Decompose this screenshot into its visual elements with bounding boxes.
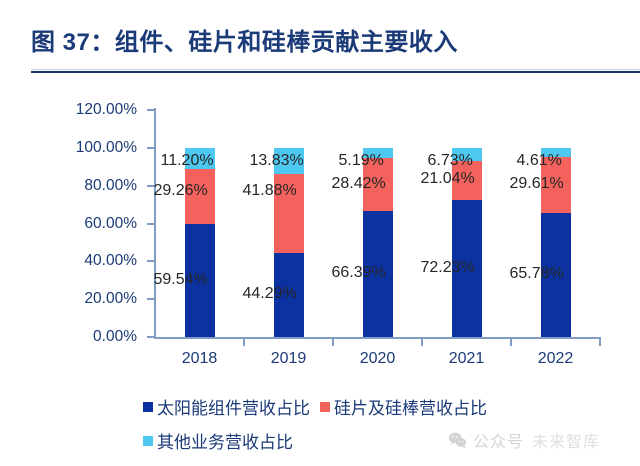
data-label-wafer-rod: 29.26% xyxy=(154,182,208,200)
y-axis-tick-label: 60.00% xyxy=(33,215,137,233)
y-axis-tick-label: 120.00% xyxy=(33,101,137,119)
x-axis-tick xyxy=(510,339,512,346)
title-rule-highlight xyxy=(31,69,640,70)
x-axis-tick xyxy=(421,339,423,346)
x-axis-label: 2018 xyxy=(155,350,245,368)
title-divider xyxy=(31,71,640,73)
legend-row-primary: 太阳能组件营收占比硅片及硅棒营收占比 xyxy=(143,394,497,419)
data-label-wafer-rod: 21.04% xyxy=(421,170,475,188)
y-axis-tick-label: 100.00% xyxy=(33,139,137,157)
y-axis-tick xyxy=(147,260,155,262)
x-axis-label: 2021 xyxy=(422,350,512,368)
x-axis-tick xyxy=(243,339,245,346)
page-title: 图 37：组件、硅片和硅棒贡献主要收入 xyxy=(31,22,458,57)
x-axis-label: 2022 xyxy=(511,350,601,368)
data-label-other-business: 6.73% xyxy=(428,152,473,170)
x-axis-label: 2019 xyxy=(244,350,334,368)
bar-stack[interactable] xyxy=(185,110,215,337)
watermark-prefix: 公众号 xyxy=(473,428,524,452)
data-label-other-business: 5.19% xyxy=(339,152,384,170)
plot-area xyxy=(155,110,600,337)
legend-label: 其他业务营收占比 xyxy=(157,428,293,453)
y-axis-tick-label: 80.00% xyxy=(33,177,137,195)
watermark: 公众号 未来智库 xyxy=(448,428,600,452)
data-label-solar-module: 44.29% xyxy=(243,285,297,303)
y-axis-tick-label: 20.00% xyxy=(33,290,137,308)
legend-label: 硅片及硅棒营收占比 xyxy=(334,394,487,419)
data-label-solar-module: 66.39% xyxy=(332,264,386,282)
data-label-wafer-rod: 41.88% xyxy=(243,182,297,200)
legend-item-wafer_rod[interactable]: 硅片及硅棒营收占比 xyxy=(320,394,487,419)
x-axis-line xyxy=(154,337,601,339)
data-label-other-business: 4.61% xyxy=(517,152,562,170)
wechat-icon xyxy=(448,431,467,450)
watermark-name: 未来智库 xyxy=(532,428,600,452)
x-axis-label: 2020 xyxy=(333,350,423,368)
legend-item-other_business[interactable]: 其他业务营收占比 xyxy=(143,428,293,453)
y-axis-tick xyxy=(147,223,155,225)
stacked-bar-chart: 0.00%20.00%40.00%60.00%80.00%100.00%120.… xyxy=(0,76,640,466)
data-label-wafer-rod: 28.42% xyxy=(332,175,386,193)
data-label-other-business: 13.83% xyxy=(250,152,304,170)
data-label-solar-module: 65.78% xyxy=(510,265,564,283)
legend-item-solar_module[interactable]: 太阳能组件营收占比 xyxy=(143,394,310,419)
y-axis-tick-label: 0.00% xyxy=(33,328,137,346)
bar-stack[interactable] xyxy=(452,110,482,337)
x-axis-tick xyxy=(599,339,601,346)
bar-stack[interactable] xyxy=(541,110,571,337)
legend-swatch-wafer_rod xyxy=(320,402,330,412)
y-axis-tick xyxy=(147,298,155,300)
x-axis-tick xyxy=(332,339,334,346)
bar-stack[interactable] xyxy=(363,110,393,337)
y-axis-tick xyxy=(147,147,155,149)
legend-row-secondary: 其他业务营收占比 xyxy=(143,428,303,453)
legend-swatch-other_business xyxy=(143,436,153,446)
y-axis-tick xyxy=(147,109,155,111)
data-label-solar-module: 59.54% xyxy=(154,271,208,289)
y-axis-tick-label: 40.00% xyxy=(33,252,137,270)
legend-label: 太阳能组件营收占比 xyxy=(157,394,310,419)
data-label-solar-module: 72.23% xyxy=(421,259,475,277)
y-axis-tick xyxy=(147,336,155,338)
legend-swatch-solar_module xyxy=(143,402,153,412)
data-label-other-business: 11.20% xyxy=(161,152,214,170)
title-block: 图 37：组件、硅片和硅棒贡献主要收入 xyxy=(0,0,640,76)
data-label-wafer-rod: 29.61% xyxy=(510,175,564,193)
